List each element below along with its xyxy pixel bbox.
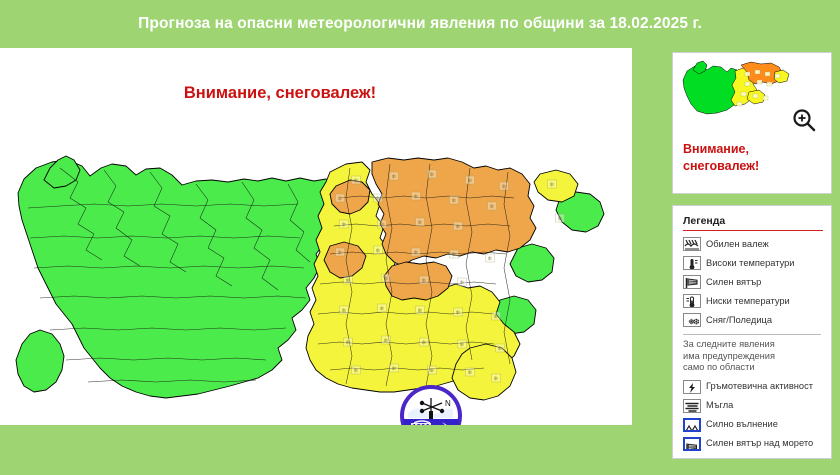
mini-warning-line1: Внимание, bbox=[683, 141, 759, 158]
overview-green-west bbox=[683, 65, 739, 114]
mini-map-card[interactable]: Внимание, снеговалеж! bbox=[672, 52, 832, 194]
legend-item-snow-ice[interactable]: ❅ ❆ Сняг/Поледица bbox=[683, 311, 823, 329]
legend-divider bbox=[683, 334, 821, 335]
bulgaria-municipality-map[interactable]: ❄ bbox=[0, 48, 632, 425]
mini-warning-line2: снеговалеж! bbox=[683, 158, 759, 175]
legend-item-heavy-precipitation[interactable]: Обилен валеж bbox=[683, 235, 823, 253]
legend-label: Силно вълнение bbox=[706, 419, 778, 430]
fog-icon bbox=[683, 399, 701, 413]
region-green-west bbox=[18, 160, 344, 398]
bulgaria-overview-map[interactable] bbox=[679, 58, 791, 120]
nimh-logo: N 1890 bbox=[400, 385, 462, 425]
legend-label: Високи температури bbox=[706, 258, 795, 269]
logo-north-label: N bbox=[445, 399, 451, 408]
magnifier-plus-icon[interactable] bbox=[791, 107, 817, 133]
legend-title: Легенда bbox=[683, 215, 823, 229]
heavy-precipitation-icon bbox=[683, 237, 701, 251]
region-green-east-coast bbox=[510, 244, 554, 282]
main-map-panel[interactable]: Внимание, снеговалеж! ❄ bbox=[0, 48, 632, 425]
legend-label: Обилен валеж bbox=[706, 239, 769, 250]
legend-item-high-waves[interactable]: Силно вълнение bbox=[683, 416, 823, 434]
legend-label: Сняг/Поледица bbox=[706, 315, 772, 326]
legend-item-thunderstorm[interactable]: Гръмотевична активност bbox=[683, 378, 823, 396]
mini-map-warning: Внимание, снеговалеж! bbox=[683, 141, 759, 175]
high-waves-icon bbox=[683, 418, 701, 432]
legend-label: Мъгла bbox=[706, 400, 733, 411]
thunderstorm-icon bbox=[683, 380, 701, 394]
right-column: Внимание, снеговалеж! Легенда bbox=[672, 52, 832, 459]
logo-year: 1890 bbox=[412, 423, 430, 425]
legend-label: Гръмотевична активност bbox=[706, 381, 813, 392]
legend-note: За следните явления има предупреждения с… bbox=[683, 339, 823, 374]
legend-label: Силен вятър над морето bbox=[706, 438, 813, 449]
region-green-southwest bbox=[16, 330, 64, 392]
legend-label: Ниски температури bbox=[706, 296, 790, 307]
legend-label: Силен вятър bbox=[706, 277, 761, 288]
title-bar: Прогноза на опасни метеорологични явлени… bbox=[0, 0, 840, 48]
snow-ice-icon: ❅ ❆ bbox=[683, 313, 701, 327]
low-temperature-icon bbox=[683, 294, 701, 308]
page-title: Прогноза на опасни метеорологични явлени… bbox=[138, 15, 702, 33]
page-root: Прогноза на опасни метеорологични явлени… bbox=[0, 0, 840, 475]
high-temperature-icon bbox=[683, 256, 701, 270]
legend-item-sea-strong-wind[interactable]: Силен вятър над морето bbox=[683, 435, 823, 453]
legend-title-underline bbox=[683, 230, 823, 231]
sea-strong-wind-icon bbox=[683, 437, 701, 451]
strong-wind-icon bbox=[683, 275, 701, 289]
legend-card: Легенда Обилен валеж bbox=[672, 205, 832, 459]
legend-item-high-temperature[interactable]: Високи температури bbox=[683, 254, 823, 272]
legend-item-low-temperature[interactable]: Ниски температури bbox=[683, 292, 823, 310]
legend-item-fog[interactable]: Мъгла bbox=[683, 397, 823, 415]
legend-item-strong-wind[interactable]: Силен вятър bbox=[683, 273, 823, 291]
svg-text:❆: ❆ bbox=[693, 318, 700, 327]
